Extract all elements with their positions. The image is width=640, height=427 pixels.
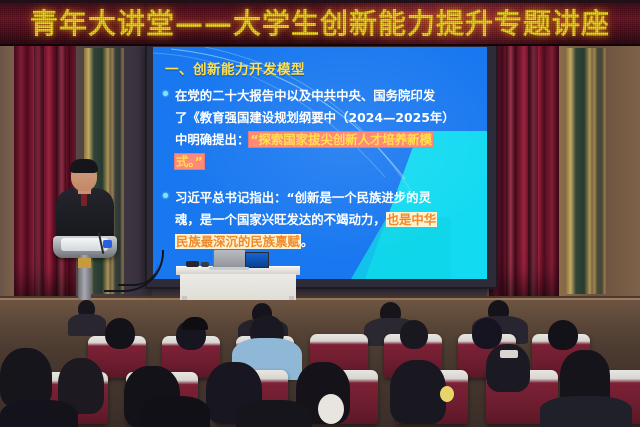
bullet-1-line-3-plain: 中明确提出：	[175, 132, 249, 147]
audience-cap	[182, 317, 208, 330]
stage-curtain-left	[14, 44, 76, 302]
bullet-2-line-3: 民族最深沉的民族禀赋。	[163, 231, 479, 253]
curtain-fold	[34, 44, 44, 302]
bullet-1-line-3: 中明确提出：“探索国家拔尖创新人才培养新模	[163, 129, 479, 151]
bullet-2-line-3-highlight: 民族最深沉的民族禀赋	[175, 234, 301, 249]
laptop-screen	[245, 252, 269, 268]
bullet-1-line-4-highlight: 式。”	[175, 154, 204, 169]
speaker-hair	[70, 159, 98, 173]
bullet-1-line-1: 在党的二十大报告中以及中共中央、国务院印发	[163, 85, 479, 107]
audience-hair-accessory	[440, 386, 454, 402]
wall-pilaster-right-2	[592, 48, 606, 294]
bullet-1-line-3-highlight: “探索国家拔尖创新人才培养新模	[249, 132, 433, 147]
bullet-2-line-2: 魂，是一个国家兴旺发达的不竭动力，也是中华	[163, 209, 479, 231]
audience-head	[0, 348, 52, 408]
audience-head-front	[140, 396, 210, 427]
desk-device-2	[201, 262, 209, 267]
led-banner: 青年大讲堂——大学生创新能力提升专题讲座	[0, 0, 640, 46]
desk-device	[186, 261, 199, 267]
audience-head	[400, 320, 428, 349]
slide-title: 一、创新能力开发模型	[165, 58, 305, 78]
led-banner-frame	[0, 0, 640, 44]
curtain-fold	[528, 44, 538, 302]
audience-area	[0, 300, 640, 427]
bullet-1-line-4: 式。”	[163, 151, 479, 173]
audience-hair-accessory	[318, 394, 344, 424]
audience-head-front	[236, 400, 312, 427]
bullet-2-line-3-plain: 。	[301, 234, 313, 249]
bullet-dot-icon	[163, 91, 168, 96]
presentation-slide: 一、创新能力开发模型 在党的二十大报告中以及中共中央、国务院印发 了《教育强国建…	[153, 47, 487, 279]
bullet-2-line-2-highlight: 也是中华	[386, 212, 438, 227]
stage-curtain-right	[489, 44, 559, 302]
speaker-tie	[81, 192, 87, 206]
audience-head-front	[0, 400, 78, 427]
audience-head	[472, 318, 502, 349]
audience-head	[390, 360, 446, 424]
podium-accent	[78, 258, 91, 268]
audience-head	[548, 320, 578, 350]
wall-pilaster-right	[566, 48, 592, 294]
podium-device	[103, 240, 112, 248]
curtain-fold	[506, 44, 516, 302]
audience-shoulders	[540, 396, 632, 427]
curtain-fold	[56, 44, 66, 302]
bullet-dot-icon	[163, 193, 168, 198]
lecture-hall-photo: 一、创新能力开发模型 在党的二十大报告中以及中共中央、国务院印发 了《教育强国建…	[0, 0, 640, 427]
bullet-1-line-2: 了《教育强国建设规划纲要中（2024—2025年）	[163, 107, 479, 129]
bullet-2-line-1: 习近平总书记指出：“创新是一个民族进步的灵	[163, 187, 479, 209]
audience-hair-clip	[500, 350, 518, 358]
audience-shoulders	[68, 314, 106, 336]
audience-head	[105, 318, 135, 349]
bullet-2-line-2-plain: 魂，是一个国家兴旺发达的不竭动力，	[175, 212, 386, 227]
slide-bullet-2: 习近平总书记指出：“创新是一个民族进步的灵 魂，是一个国家兴旺发达的不竭动力，也…	[163, 187, 479, 253]
slide-bullet-1: 在党的二十大报告中以及中共中央、国务院印发 了《教育强国建设规划纲要中（2024…	[163, 85, 479, 173]
laptop-base	[209, 267, 249, 270]
